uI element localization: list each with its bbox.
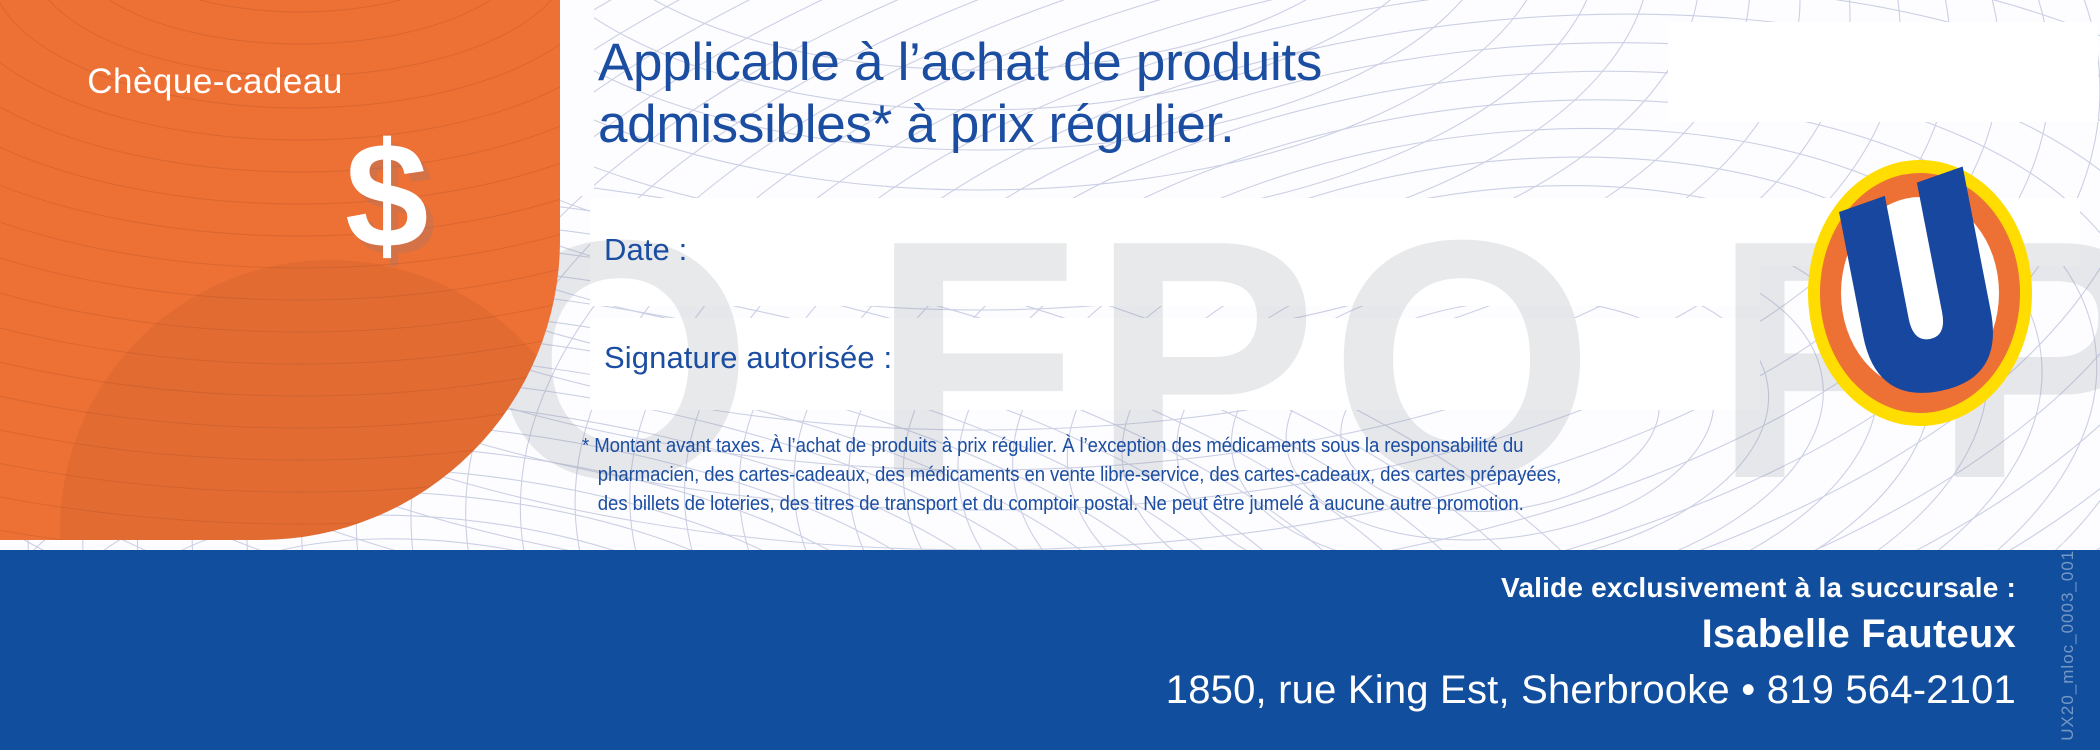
footnote-line-3: des billets de loteries, des titres de t… [582, 490, 1652, 519]
headline-line-2: admissibles* à prix régulier. [598, 94, 1698, 156]
footer-bar: Valide exclusivement à la succursale : I… [0, 550, 2100, 750]
dollar-sign-icon: $ [345, 120, 426, 270]
knockout-panel-date [590, 266, 1760, 306]
footer-address: 1850, rue King Est, Sherbrooke • 819 564… [1166, 668, 2016, 713]
date-field-label: Date : [604, 232, 687, 268]
footer-branch-name: Isabelle Fauteux [1702, 612, 2016, 657]
footnote-disclaimer: * Montant avant taxes. À l’achat de prod… [582, 432, 1652, 519]
page-title: Applicable à l’achat de produits admissi… [598, 32, 1698, 156]
uniprix-logo [1806, 158, 2034, 428]
reference-code: UX20_mloc_0003_0013 [2058, 530, 2078, 750]
knockout-panel-top-right [1668, 22, 2098, 122]
knockout-panel-left-strip [560, 0, 594, 196]
orange-left-panel: Chèque-cadeau $ $ [0, 0, 560, 540]
footnote-line-1: * Montant avant taxes. À l’achat de prod… [582, 432, 1652, 461]
footnote-line-2: pharmacien, des cartes-cadeaux, des médi… [582, 461, 1652, 490]
headline-line-1: Applicable à l’achat de produits [598, 32, 1698, 94]
cheque-cadeau-title: Chèque-cadeau [0, 62, 430, 102]
gift-certificate-voucher: FPO FPO FPO [0, 0, 2100, 750]
footer-validity-label: Valide exclusivement à la succursale : [1501, 572, 2016, 604]
signature-field-label: Signature autorisée : [604, 340, 892, 376]
